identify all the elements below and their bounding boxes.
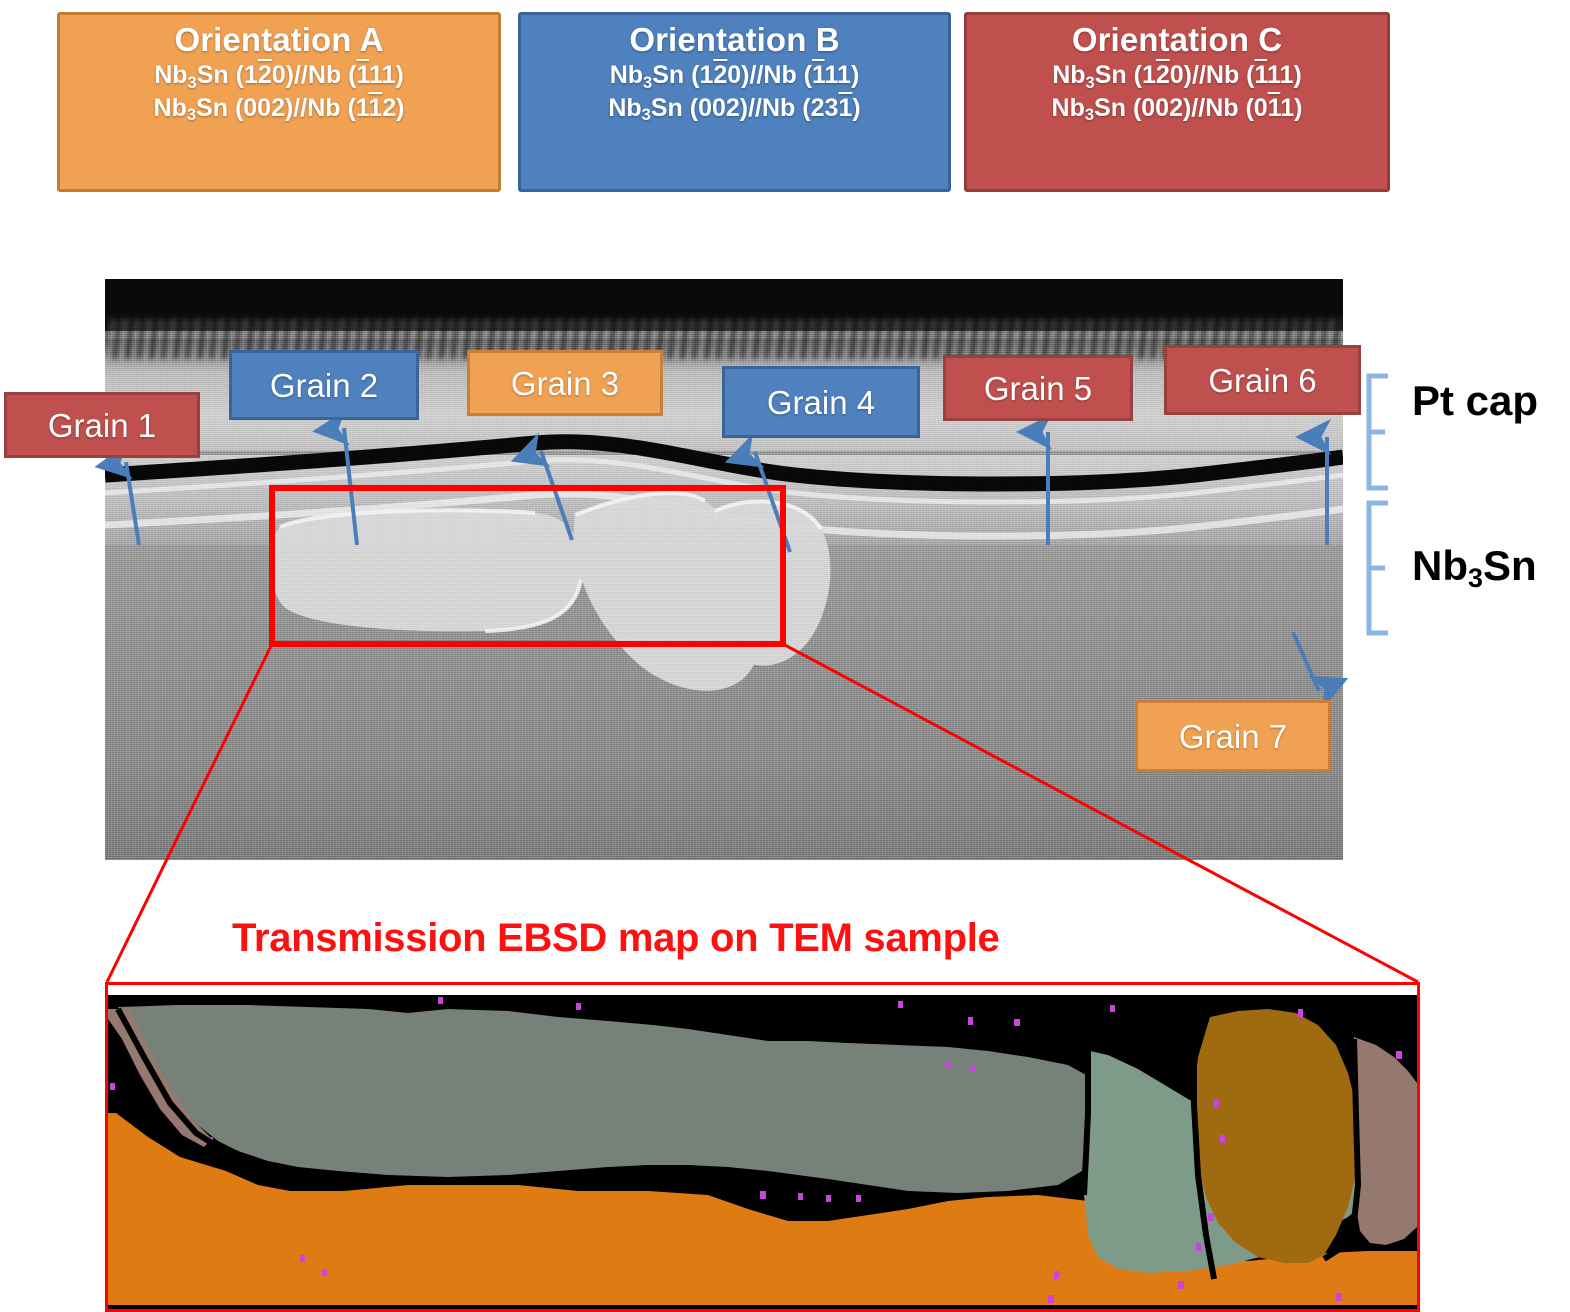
orientation-c-box: Orientation C Nb3Sn (120)//Nb (111) Nb3S…	[964, 12, 1390, 192]
orient-c-r1-post: Sn (1	[1095, 61, 1156, 89]
orient-a-r2-post: Sn (002)//Nb (1	[196, 94, 368, 122]
orient-c-r1-mid: 0)//Nb (	[1170, 61, 1255, 89]
nb3sn-label-post: Sn	[1483, 542, 1537, 589]
grain-label-7[interactable]: Grain 7	[1135, 700, 1331, 772]
grain-label-7-text: Grain 7	[1179, 720, 1287, 753]
orient-c-r1-pre: Nb	[1052, 61, 1085, 89]
orient-a-r1-end: 11)	[369, 61, 404, 89]
orient-c-r2-sub: 3	[1085, 106, 1094, 124]
orient-b-r2-end: )	[852, 94, 860, 122]
grain-label-1-text: Grain 1	[48, 409, 156, 442]
nb3sn-label-sub: 3	[1468, 563, 1483, 593]
grain-label-4[interactable]: Grain 4	[722, 366, 920, 438]
ebsd-grain-orange-right	[1320, 1251, 1417, 1305]
orient-b-r2-pre: Nb	[608, 94, 641, 122]
orient-b-r2-post: Sn (002)//Nb (23	[651, 94, 839, 122]
orient-b-r1-sub: 3	[643, 74, 652, 92]
orient-a-r1-bar2: 1	[356, 61, 369, 89]
orient-b-r1-pre: Nb	[610, 61, 643, 89]
ebsd-grain-regions	[108, 995, 1417, 1305]
layer-brackets	[1369, 376, 1388, 633]
orientation-c-relation-1: Nb3Sn (120)//Nb (111)	[967, 59, 1387, 92]
orient-b-r1-mid: 0)//Nb (	[727, 61, 812, 89]
orient-b-r2-sub: 3	[642, 106, 651, 124]
orientation-a-relation-1: Nb3Sn (120)//Nb (111)	[60, 59, 498, 92]
orient-b-r1-bar2: 1	[812, 61, 825, 89]
orientation-c-relation-2: Nb3Sn (002)//Nb (011)	[967, 92, 1387, 125]
orientation-c-title: Orientation C	[967, 21, 1387, 59]
orient-a-r1-bar1: 2	[258, 61, 272, 89]
orient-a-r2-pre: Nb	[154, 94, 187, 122]
orientation-a-box: Orientation A Nb3Sn (120)//Nb (111) Nb3S…	[57, 12, 501, 192]
orient-c-r1-sub: 3	[1086, 74, 1095, 92]
orient-c-r1-end: 11)	[1267, 61, 1302, 89]
orient-c-r2-bar: 1	[1268, 94, 1281, 122]
orient-b-r1-bar1: 2	[713, 61, 727, 89]
grain-label-4-text: Grain 4	[767, 386, 875, 419]
orient-a-r1-post: Sn (1	[197, 61, 258, 89]
orientation-b-title: Orientation B	[521, 21, 948, 59]
orient-c-r1-bar2: 1	[1254, 61, 1267, 89]
pt-cap-label: Pt cap	[1412, 377, 1538, 425]
ebsd-panel	[105, 982, 1420, 1312]
orient-c-r1-bar1: 2	[1156, 61, 1170, 89]
grain-label-3[interactable]: Grain 3	[467, 350, 663, 416]
ebsd-orientation-map	[108, 995, 1417, 1309]
grain-label-6[interactable]: Grain 6	[1164, 345, 1361, 415]
grain-label-6-text: Grain 6	[1208, 364, 1316, 397]
orientation-a-relation-2: Nb3Sn (002)//Nb (112)	[60, 92, 498, 125]
orientation-b-relation-1: Nb3Sn (120)//Nb (111)	[521, 59, 948, 92]
orient-b-r2-bar: 1	[838, 94, 852, 122]
nb3sn-label-pre: Nb	[1412, 542, 1468, 589]
grain-label-5-text: Grain 5	[984, 372, 1092, 405]
grain-label-1[interactable]: Grain 1	[4, 392, 200, 458]
orient-a-r1-mid: 0)//Nb (	[272, 61, 357, 89]
orient-b-r1-post: Sn (1	[652, 61, 713, 89]
orient-a-r2-sub: 3	[187, 106, 196, 124]
nb3sn-label: Nb3Sn	[1412, 542, 1537, 590]
orientation-b-relation-2: Nb3Sn (002)//Nb (231)	[521, 92, 948, 125]
orient-a-r2-bar: 1	[368, 94, 382, 122]
orient-b-r1-end: 11)	[825, 61, 860, 89]
grain-label-2-text: Grain 2	[270, 369, 378, 402]
grain-label-5[interactable]: Grain 5	[943, 355, 1133, 421]
pt-cap-label-text: Pt cap	[1412, 377, 1538, 424]
ebsd-caption: Transmission EBSD map on TEM sample	[232, 916, 999, 961]
grain-label-3-text: Grain 3	[511, 367, 619, 400]
orient-a-r1-sub: 3	[188, 74, 197, 92]
orient-a-r1-pre: Nb	[154, 61, 187, 89]
grain-label-2[interactable]: Grain 2	[229, 350, 419, 420]
orientation-b-box: Orientation B Nb3Sn (120)//Nb (111) Nb3S…	[518, 12, 951, 192]
orient-a-r2-end: 2)	[382, 94, 404, 122]
orientation-a-title: Orientation A	[60, 21, 498, 59]
orient-c-r2-end: 1)	[1280, 94, 1302, 122]
orient-c-r2-post: Sn (002)//Nb (0	[1094, 94, 1268, 122]
orient-c-r2-pre: Nb	[1052, 94, 1085, 122]
